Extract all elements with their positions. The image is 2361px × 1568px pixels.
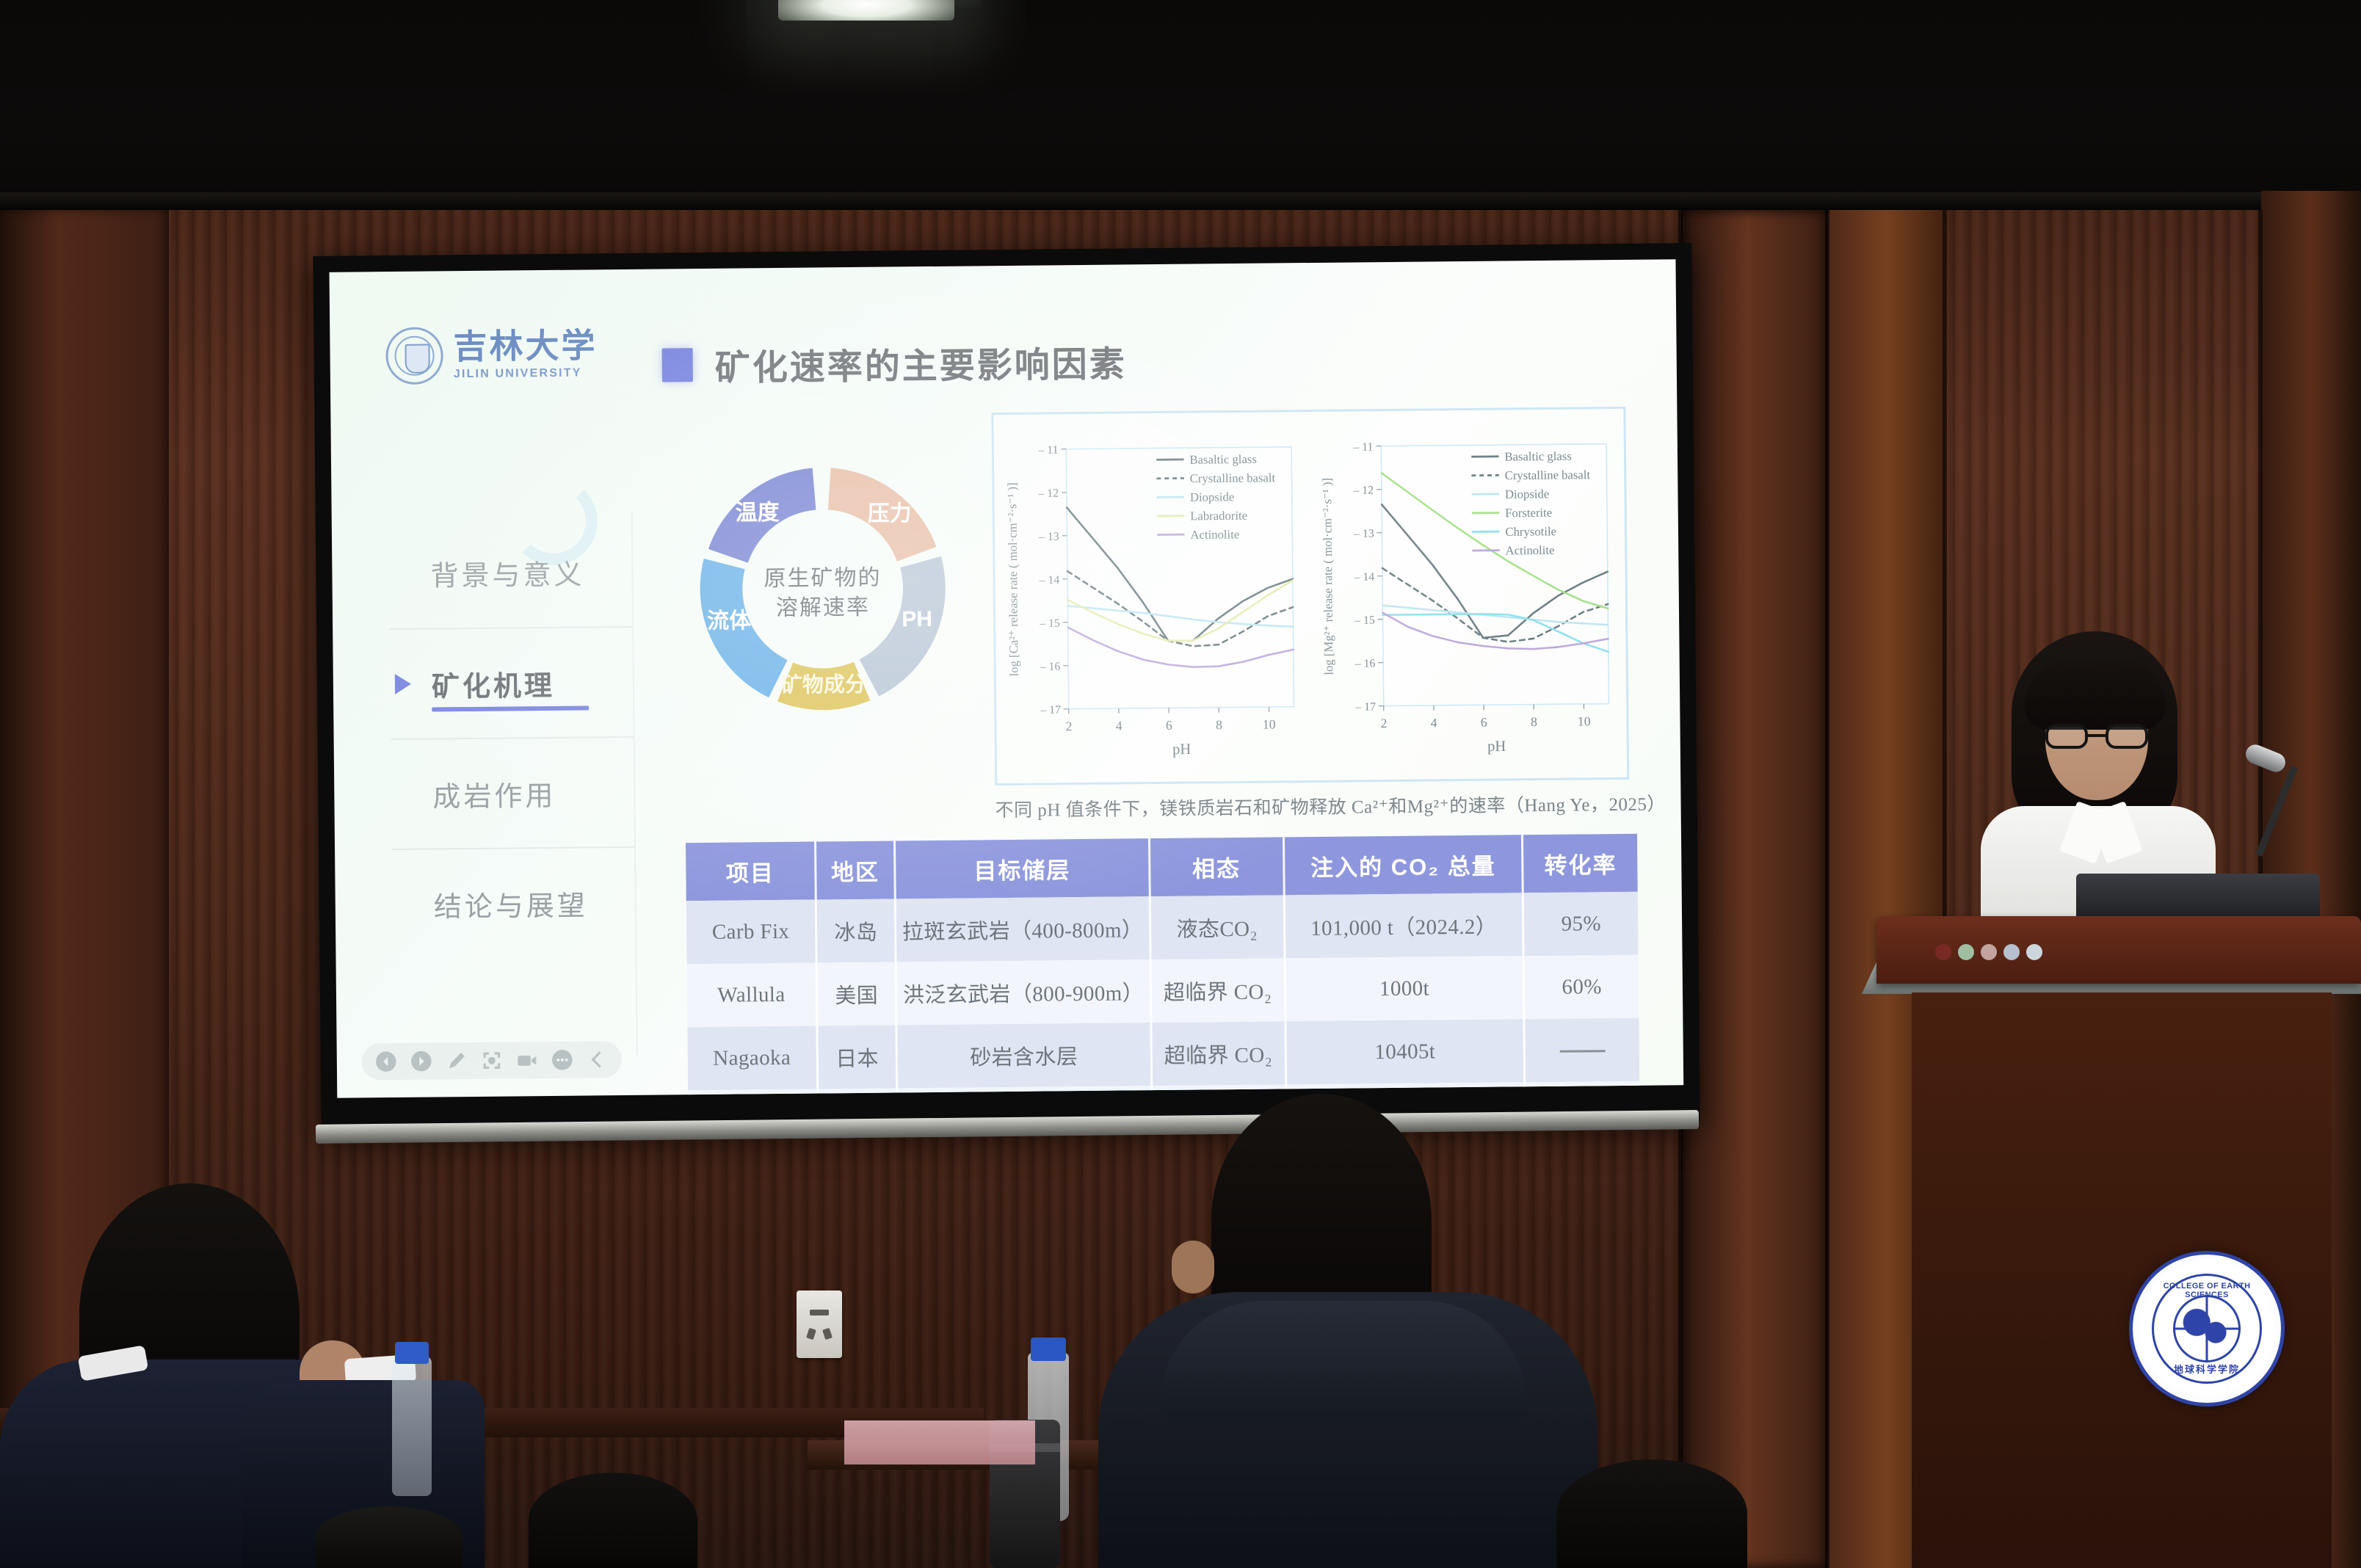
table-cell: 日本: [817, 1025, 897, 1089]
table-row: Nagaoka日本砂岩含水层超临界 CO₂10405t: [687, 1018, 1639, 1090]
donut-label-mineral: 矿物成分: [781, 672, 866, 697]
svg-text:– 11: – 11: [1352, 441, 1373, 454]
svg-text:Basaltic glass: Basaltic glass: [1189, 452, 1257, 467]
table-header-row: 项目 地区 目标储层 相态 注入的 CO₂ 总量 转化率: [686, 834, 1638, 901]
table-cell: 超临界 CO₂: [1150, 958, 1285, 1023]
svg-text:– 14: – 14: [1354, 571, 1375, 584]
table-row: Carb Fix冰岛拉斑玄武岩（400-800m）液态CO₂101,000 t（…: [686, 892, 1639, 964]
projects-table: 项目 地区 目标储层 相态 注入的 CO₂ 总量 转化率 Carb Fix冰岛拉…: [686, 834, 1640, 1098]
table-cell: [1524, 1018, 1639, 1082]
audience-hood: [1160, 1301, 1527, 1426]
lectern-top: [1876, 916, 2361, 984]
table-cell: 洪泛玄武岩（800-900m）: [896, 959, 1151, 1025]
table-cell: Carbon X(2024年启): [688, 1089, 819, 1097]
svg-text:Actinolite: Actinolite: [1190, 527, 1239, 542]
college-seal-icon: COLLEGE OF EARTH SCIENCES 地球科学学院: [2129, 1251, 2285, 1407]
lectern-body: COLLEGE OF EARTH SCIENCES 地球科学学院: [1912, 992, 2332, 1568]
svg-text:– 16: – 16: [1354, 658, 1376, 670]
table-cell: 砂岩含水层: [896, 1023, 1151, 1088]
bottle-cap: [395, 1342, 429, 1364]
svg-text:– 11: – 11: [1038, 444, 1059, 457]
donut-label-temperature: 温度: [736, 501, 780, 526]
table-cell: 冰岛: [816, 899, 896, 962]
table-cell: 超临界 CO₂: [1150, 1021, 1285, 1086]
svg-text:6: 6: [1481, 715, 1487, 730]
ceiling-beam: [0, 192, 2361, 210]
audience-head-front-left: [316, 1506, 463, 1568]
svg-text:Crystalline basalt: Crystalline basalt: [1190, 471, 1276, 485]
svg-text:Forsterite: Forsterite: [1505, 506, 1552, 520]
svg-text:– 17: – 17: [1354, 701, 1376, 714]
svg-text:8: 8: [1216, 717, 1222, 732]
pen-icon[interactable]: [446, 1050, 468, 1072]
svg-text:4: 4: [1431, 715, 1437, 730]
ceiling: [0, 0, 2361, 220]
svg-text:2: 2: [1065, 719, 1072, 733]
page-title: 矿化速率的主要影响因素: [714, 335, 1127, 390]
lectern: COLLEGE OF EARTH SCIENCES 地球科学学院: [1876, 916, 2361, 1568]
svg-text:– 16: – 16: [1040, 661, 1061, 673]
svg-text:2: 2: [1380, 716, 1387, 730]
lecture-hall-scene: 吉林大学 JILIN UNIVERSITY 矿化速率的主要影响因素 背景与意义 …: [0, 0, 2361, 1568]
table-row: Wallula美国洪泛玄武岩（800-900m）超临界 CO₂1000t60%: [687, 955, 1639, 1027]
svg-text:Diopside: Diopside: [1505, 487, 1549, 501]
col-project: 项目: [686, 842, 816, 901]
sidebar-item-label: 成岩作用: [432, 772, 556, 814]
logo-english-name: JILIN UNIVERSITY: [454, 366, 598, 381]
seal-globe-icon: [2173, 1295, 2241, 1362]
donut-center-line2: 溶解速率: [678, 592, 968, 623]
table-body: Carb Fix冰岛拉斑玄武岩（400-800m）液态CO₂101,000 t（…: [686, 892, 1641, 1098]
release-rate-figure: – 17– 16– 15– 14– 13– 12– 11246810pHlog …: [991, 407, 1629, 785]
university-seal-icon: [385, 327, 443, 385]
seal-inner-ring: COLLEGE OF EARTH SCIENCES 地球科学学院: [2152, 1274, 2262, 1384]
projector-screen: 吉林大学 JILIN UNIVERSITY 矿化速率的主要影响因素 背景与意义 …: [313, 243, 1700, 1134]
svg-text:– 12: – 12: [1352, 484, 1374, 497]
lectern-button-green[interactable]: [1958, 944, 1974, 960]
svg-text:– 13: – 13: [1038, 531, 1059, 543]
chart-mg-release: – 17– 16– 15– 14– 13– 12– 11246810pHlog …: [1308, 409, 1627, 780]
next-slide-icon[interactable]: [410, 1050, 432, 1072]
table-cell: 60%: [1523, 955, 1639, 1019]
audience-head-front-center: [529, 1473, 697, 1568]
table-cell: 95%: [1523, 892, 1639, 956]
svg-text:10: 10: [1263, 716, 1276, 731]
lectern-button-red[interactable]: [1935, 944, 1951, 960]
lectern-button-blue[interactable]: [2003, 944, 2020, 960]
svg-text:10: 10: [1578, 714, 1591, 728]
wall-panel-right-a: [1681, 210, 1828, 1568]
more-options-icon[interactable]: [551, 1049, 573, 1071]
presenter-glasses: [2045, 724, 2148, 749]
sidebar-item-conclusion[interactable]: 结论与展望: [392, 846, 635, 959]
power-outlet: [797, 1291, 842, 1358]
ceiling-light: [778, 0, 954, 21]
svg-text:Labradorite: Labradorite: [1190, 509, 1247, 523]
svg-text:4: 4: [1116, 719, 1123, 733]
active-underline: [432, 705, 589, 711]
outlet-slot: [806, 1328, 816, 1340]
table-cell: 玄武岩（300-500m）: [897, 1086, 1152, 1098]
sidebar-item-diagenesis[interactable]: 成岩作用: [391, 736, 634, 849]
glasses-bridge: [2088, 734, 2106, 737]
svg-text:– 13: – 13: [1353, 528, 1374, 540]
sidebar-item-label: 矿化机理: [432, 662, 556, 704]
col-region: 地区: [815, 841, 895, 899]
glasses-lens: [2045, 724, 2088, 749]
table-cell: 1000t: [1285, 956, 1524, 1021]
audience-ear: [1172, 1241, 1214, 1293]
svg-text:– 12: – 12: [1038, 487, 1059, 500]
glasses-lens: [2106, 724, 2148, 749]
donut-center-line1: 原生矿物的: [677, 562, 968, 594]
col-phase: 相态: [1149, 837, 1284, 896]
donut-label-pressure: 压力: [868, 501, 912, 526]
audience-head-right: [1556, 1459, 1747, 1568]
sidebar-item-mineralization[interactable]: 矿化机理: [390, 626, 633, 738]
outlet-slot: [822, 1328, 833, 1340]
collapse-toolbar-icon[interactable]: [587, 1048, 609, 1070]
svg-text:Chrysotile: Chrysotile: [1505, 524, 1556, 539]
video-record-icon[interactable]: [516, 1049, 538, 1071]
donut-center-label: 原生矿物的 溶解速率: [677, 562, 968, 623]
svg-text:Crystalline basalt: Crystalline basalt: [1505, 468, 1591, 482]
seal-text-bottom: 地球科学学院: [2154, 1362, 2260, 1376]
table-cell: Carb Fix: [686, 900, 816, 965]
outlet-slot: [810, 1310, 829, 1315]
title-bullet-icon: [662, 348, 693, 382]
previous-slide-icon[interactable]: [375, 1050, 397, 1072]
logo-chinese-name: 吉林大学: [453, 329, 597, 364]
figure-caption: 不同 pH 值条件下，镁铁质岩石和矿物释放 Ca²⁺和Mg²⁺的速率（Hang …: [995, 790, 1641, 822]
table-cell: 液态CO₂: [1151, 1084, 1286, 1097]
table-cell: 美国: [816, 962, 896, 1026]
presentation-toolbar[interactable]: [362, 1041, 622, 1080]
svg-text:– 15: – 15: [1354, 614, 1375, 627]
table-cell: 10405t: [1285, 1019, 1525, 1084]
col-co2-total: 注入的 CO₂ 总量: [1283, 835, 1523, 895]
wall-seam: [1825, 210, 1829, 1568]
chart-ca-release: – 17– 16– 15– 14– 13– 12– 11246810pHlog …: [993, 412, 1312, 783]
lectern-button-grey[interactable]: [2026, 944, 2042, 960]
table-cell: 101,000 t（2024.2）: [1284, 893, 1523, 958]
lectern-button-rose[interactable]: [1981, 944, 1997, 960]
svg-text:8: 8: [1531, 714, 1537, 729]
table-cell: [1525, 1081, 1640, 1098]
svg-text:pH: pH: [1487, 738, 1506, 755]
presentation-slide[interactable]: 吉林大学 JILIN UNIVERSITY 矿化速率的主要影响因素 背景与意义 …: [330, 259, 1684, 1098]
svg-text:Diopside: Diopside: [1190, 490, 1234, 504]
svg-text:6: 6: [1166, 718, 1172, 733]
water-bottle: [392, 1357, 432, 1496]
svg-text:pH: pH: [1172, 741, 1192, 758]
sidebar-item-label: 结论与展望: [434, 882, 589, 924]
donut-decorative-arc: [509, 476, 598, 565]
table-cell: 中国: [818, 1088, 899, 1097]
table-cell: 液态CO₂: [1150, 895, 1285, 959]
laser-pointer-icon[interactable]: [481, 1050, 503, 1072]
col-reservoir: 目标储层: [895, 838, 1150, 899]
svg-text:log [Mg²⁺ release rate ( mol·c: log [Mg²⁺ release rate ( mol·cm⁻²·s⁻¹ )]: [1320, 478, 1336, 675]
jilin-university-logo: 吉林大学 JILIN UNIVERSITY: [385, 325, 598, 385]
floor-strip: [844, 1420, 1035, 1464]
svg-text:Basaltic glass: Basaltic glass: [1504, 449, 1572, 464]
table-cell: 拉斑玄武岩（400-800m）: [896, 896, 1150, 962]
svg-text:– 14: – 14: [1039, 574, 1060, 587]
svg-text:Actinolite: Actinolite: [1506, 543, 1555, 558]
influence-factors-donut: 温度 压力 PH 矿物成分 流体 原生矿物的 溶解速率: [676, 434, 970, 745]
svg-text:log [Ca²⁺ release rate ( mol·c: log [Ca²⁺ release rate ( mol·cm⁻²·s⁻¹ )]: [1005, 482, 1021, 676]
bottle-cap: [1031, 1337, 1066, 1361]
table-cell: Nagaoka: [687, 1026, 817, 1090]
col-conversion: 转化率: [1523, 834, 1638, 893]
svg-text:– 17: – 17: [1040, 704, 1061, 716]
svg-text:– 15: – 15: [1039, 617, 1060, 630]
table-cell: Wallula: [687, 963, 817, 1028]
presenter-bangs: [2025, 661, 2166, 730]
empty-value-dash: [1559, 1050, 1605, 1053]
caret-right-icon: [395, 674, 411, 694]
lectern-control-buttons[interactable]: [1935, 944, 2042, 960]
slide-section-nav[interactable]: 背景与意义 矿化机理 成岩作用 结论与展望: [389, 516, 636, 959]
slide-title-row: 矿化速率的主要影响因素: [661, 335, 1127, 391]
